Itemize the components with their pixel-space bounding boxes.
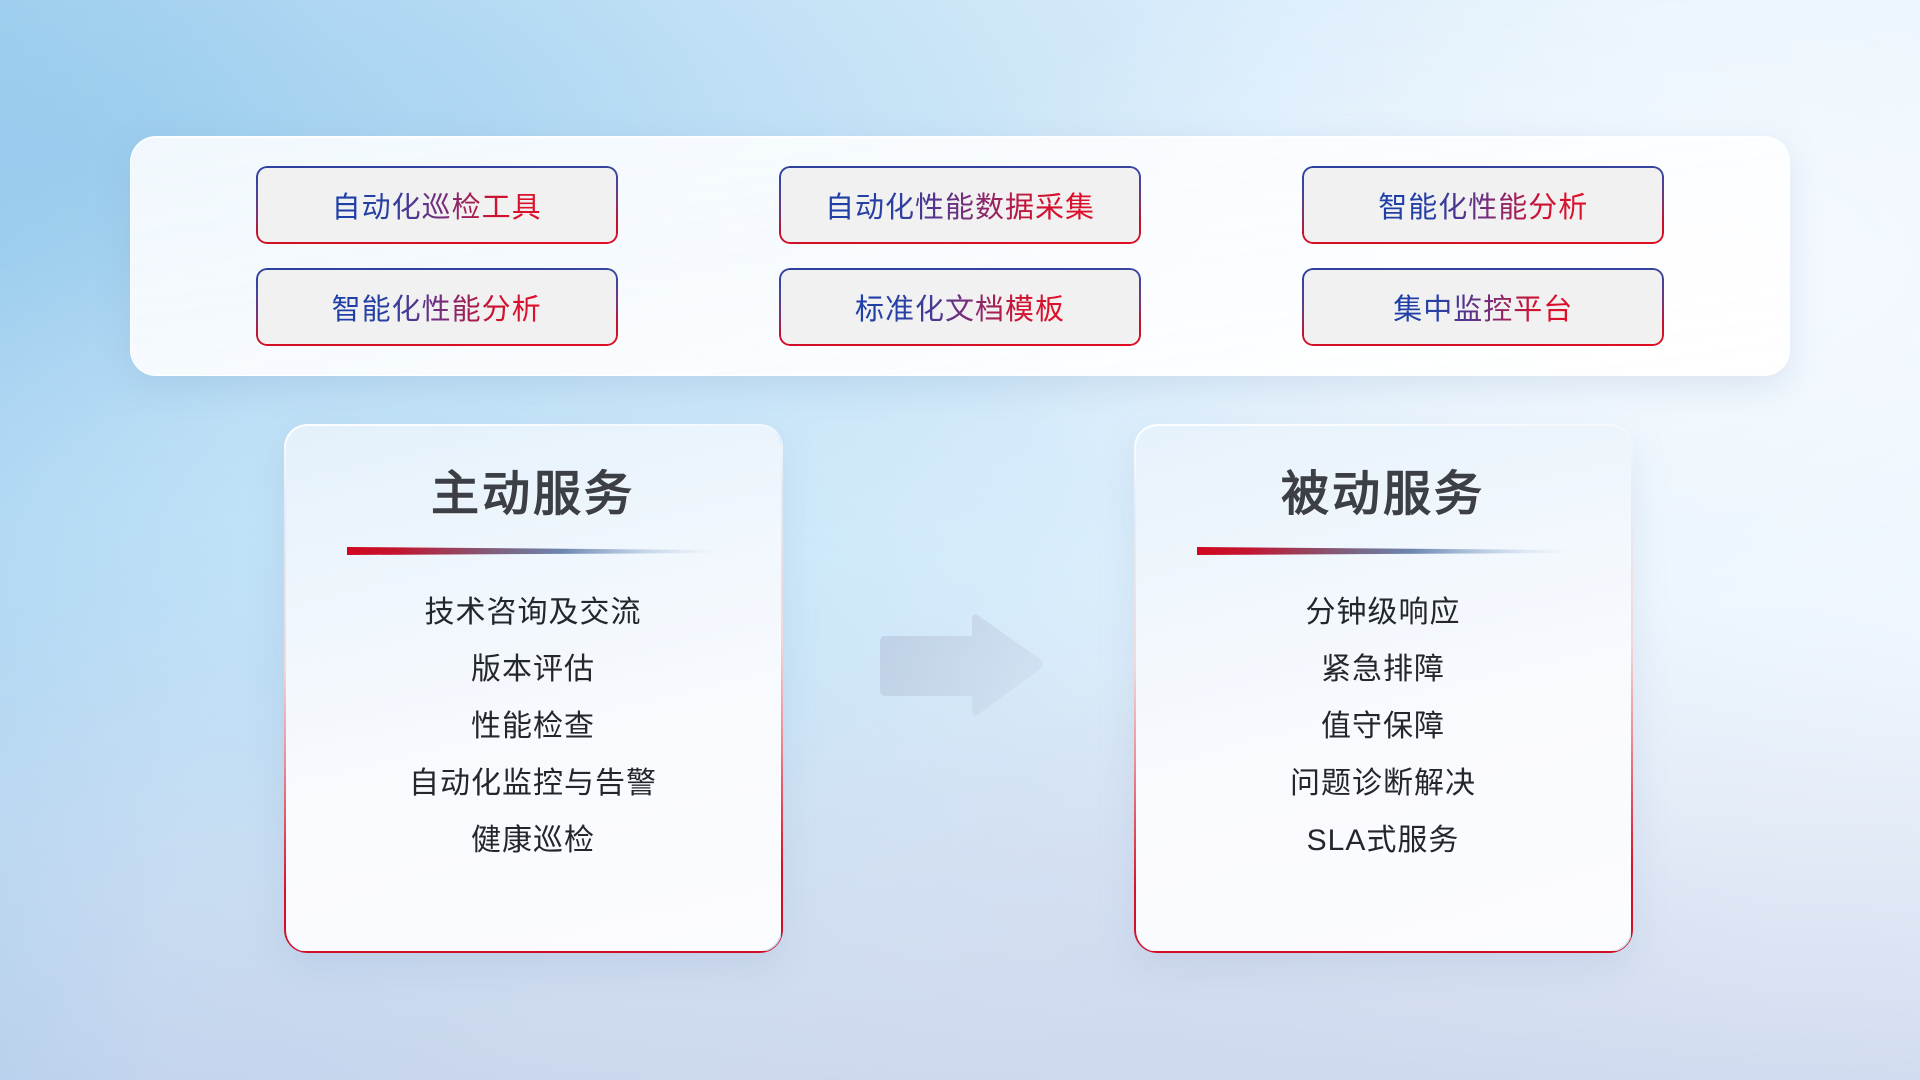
list-item: SLA式服务 xyxy=(1307,812,1460,869)
service-card-passive: 被动服务 分钟级响应 紧急排障 值守保障 问题诊断解决 SLA式服务 xyxy=(1135,425,1631,951)
list-item: 值守保障 xyxy=(1321,698,1445,755)
list-item: 健康巡检 xyxy=(471,812,595,869)
capability-tags-panel: 自动化巡检工具 自动化性能数据采集 智能化性能分析 智能化性能分析 标准化文档模… xyxy=(130,136,1790,376)
list-item: 紧急排障 xyxy=(1321,641,1445,698)
capability-tag-grid: 自动化巡检工具 自动化性能数据采集 智能化性能分析 智能化性能分析 标准化文档模… xyxy=(131,137,1789,375)
arrow-shape xyxy=(880,615,1043,716)
list-item: 分钟级响应 xyxy=(1306,584,1461,641)
arrow-right-icon xyxy=(868,612,1046,720)
capability-tag[interactable]: 智能化性能分析 xyxy=(258,270,616,344)
capability-tag[interactable]: 自动化性能数据采集 xyxy=(781,168,1139,242)
list-item: 技术咨询及交流 xyxy=(425,584,642,641)
capability-tag-label: 智能化性能分析 xyxy=(1378,184,1588,226)
card-divider xyxy=(315,544,751,558)
capability-tag-label: 自动化性能数据采集 xyxy=(825,184,1095,226)
list-item: 问题诊断解决 xyxy=(1290,755,1476,812)
capability-tag[interactable]: 自动化巡检工具 xyxy=(258,168,616,242)
capability-tag[interactable]: 标准化文档模板 xyxy=(781,270,1139,344)
card-title: 被动服务 xyxy=(1281,467,1485,522)
capability-tag-label: 标准化文档模板 xyxy=(855,286,1065,328)
capability-tag[interactable]: 集中监控平台 xyxy=(1304,270,1662,344)
service-item-list: 技术咨询及交流 版本评估 性能检查 自动化监控与告警 健康巡检 xyxy=(315,584,751,869)
card-divider xyxy=(1165,544,1601,558)
card-title: 主动服务 xyxy=(431,467,635,522)
capability-tag-label: 集中监控平台 xyxy=(1393,286,1573,328)
service-item-list: 分钟级响应 紧急排障 值守保障 问题诊断解决 SLA式服务 xyxy=(1165,584,1601,869)
service-card-active: 主动服务 技术咨询及交流 版本评估 性能检查 自动化监控与告警 健康巡检 xyxy=(285,425,781,951)
list-item: 性能检查 xyxy=(471,698,595,755)
capability-tag-label: 自动化巡检工具 xyxy=(332,184,542,226)
gradient-divider-icon xyxy=(347,544,719,558)
capability-tag-label: 智能化性能分析 xyxy=(332,286,542,328)
list-item: 自动化监控与告警 xyxy=(409,755,657,812)
list-item: 版本评估 xyxy=(471,641,595,698)
gradient-divider-icon xyxy=(1197,544,1569,558)
capability-tag[interactable]: 智能化性能分析 xyxy=(1304,168,1662,242)
